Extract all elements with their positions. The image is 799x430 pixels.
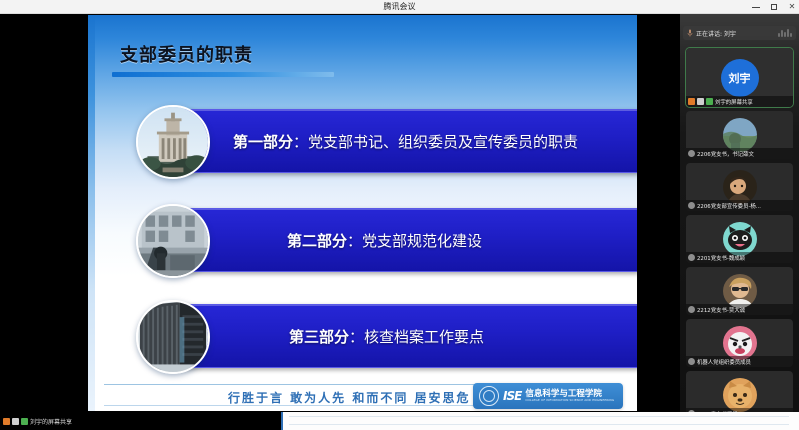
taskbar-share-label: 刘宇的屏幕共享 bbox=[30, 417, 72, 426]
cartoon-cat-photo bbox=[723, 222, 757, 256]
close-button[interactable]: ✕ bbox=[787, 2, 797, 12]
share-badge-icon bbox=[3, 418, 10, 425]
content-text-2: 第二部分：党支部规范化建设 bbox=[177, 230, 482, 251]
content-text-1: 第一部分：党支部书记、组织委员及宣传委员的职责 bbox=[177, 131, 578, 152]
building-main-hall-photo bbox=[136, 105, 210, 179]
mic-muted-badge-icon bbox=[688, 150, 695, 157]
participant-label-3: 2201党支书-魏成颖 bbox=[686, 252, 793, 263]
building-tower-photo bbox=[136, 300, 210, 374]
content-bar-1[interactable]: 第一部分：党支部书记、组织委员及宣传委员的职责 bbox=[176, 109, 637, 173]
taskbar: 刘宇的屏幕共享 bbox=[0, 412, 799, 430]
participant-tile-1[interactable]: 2206党支书，书记薛文 bbox=[686, 111, 793, 159]
participant-label-5: 机器人党组织委员成员 bbox=[686, 356, 793, 367]
participant-label-2: 2206党支部宣传委员-杨... bbox=[686, 200, 793, 211]
mic-muted-badge-icon bbox=[688, 254, 695, 261]
college-seal-icon bbox=[479, 386, 499, 406]
taskbar-share-indicator[interactable]: 刘宇的屏幕共享 bbox=[3, 415, 72, 427]
mic-muted-badge-icon bbox=[688, 358, 695, 365]
presentation-slide: 支部委员的职责 第一部分：党支部书记、组织委员及宣传委员的职责 bbox=[88, 15, 637, 411]
participant-name-5: 机器人党组织委员成员 bbox=[697, 358, 751, 366]
participant-name-4: 2212党支书-贾大诚 bbox=[697, 306, 745, 314]
active-speaker-chip: 正在讲话: 刘宇 bbox=[683, 26, 796, 40]
slide-footer-motto: 行胜于言 敢为人先 和而不同 居安思危 bbox=[228, 389, 471, 406]
mic-icon bbox=[687, 29, 693, 37]
building-entrance-photo bbox=[136, 204, 210, 278]
participant-tile-3[interactable]: 2201党支书-魏成颖 bbox=[686, 215, 793, 263]
participant-label-4: 2212党支书-贾大诚 bbox=[686, 304, 793, 315]
person-portrait-photo bbox=[723, 170, 757, 204]
participant-name-2: 2206党支部宣传委员-杨... bbox=[697, 202, 761, 210]
content-sep-1: ： bbox=[293, 133, 308, 151]
participant-tile-2[interactable]: 2206党支部宣传委员-杨... bbox=[686, 163, 793, 211]
logo-mark-text: ISE bbox=[503, 389, 521, 403]
active-speaker-label: 正在讲话: 刘宇 bbox=[696, 29, 736, 38]
window-controls: ✕ bbox=[751, 0, 797, 14]
participant-name-0: 刘宇的屏幕共享 bbox=[715, 98, 753, 106]
minimize-button[interactable] bbox=[751, 2, 761, 12]
participant-name-1: 2206党支书，书记薛文 bbox=[697, 150, 754, 158]
person-sunglasses-photo bbox=[723, 274, 757, 308]
slide-title: 支部委员的职责 bbox=[120, 41, 253, 67]
mic-badge-icon bbox=[21, 418, 28, 425]
video-badge-icon bbox=[12, 418, 19, 425]
maximize-button[interactable] bbox=[769, 2, 779, 12]
slide-title-underline bbox=[112, 72, 334, 77]
video-badge-icon bbox=[697, 98, 704, 105]
content-text-3: 第三部分：核查档案工作要点 bbox=[177, 326, 484, 347]
participant-tile-0[interactable]: 刘宇 刘宇的屏幕共享 bbox=[686, 48, 793, 107]
person-outdoor-photo bbox=[723, 118, 757, 152]
mic-badge-icon bbox=[706, 98, 713, 105]
content-bar-2[interactable]: 第二部分：党支部规范化建设 bbox=[176, 208, 637, 272]
participant-name-3: 2201党支书-魏成颖 bbox=[697, 254, 745, 262]
window-titlebar: 腾讯会议 ✕ bbox=[0, 0, 799, 14]
content-sep-2: ： bbox=[347, 232, 362, 250]
participant-panel: 正在讲话: 刘宇 刘宇 刘宇的屏幕共享 bbox=[680, 14, 799, 412]
content-body-2: 党支部规范化建设 bbox=[362, 232, 482, 250]
slide-left-accent-bar bbox=[88, 15, 95, 411]
logo-college-name-en: COLLEGE OF INFORMATION SCIENCE AND ENGIN… bbox=[525, 399, 614, 402]
shared-screen-stage: 支部委员的职责 第一部分：党支部书记、组织委员及宣传委员的职责 bbox=[0, 14, 680, 412]
taskbar-document-pane bbox=[281, 412, 799, 430]
participant-label-1: 2206党支书，书记薛文 bbox=[686, 148, 793, 159]
share-badge-icon bbox=[688, 98, 695, 105]
content-label-2: 第二部分 bbox=[287, 232, 347, 250]
window-title: 腾讯会议 bbox=[384, 0, 416, 14]
college-logo: ISE 信息科学与工程学院 COLLEGE OF INFORMATION SCI… bbox=[473, 383, 623, 409]
cartoon-angry-photo bbox=[723, 326, 757, 360]
content-body-3: 核查档案工作要点 bbox=[364, 328, 484, 346]
participant-label-0: 刘宇的屏幕共享 bbox=[686, 96, 793, 107]
audio-wave-icon bbox=[778, 29, 792, 37]
mic-muted-badge-icon bbox=[688, 202, 695, 209]
content-label-1: 第一部分 bbox=[233, 133, 293, 151]
participant-tile-5[interactable]: 机器人党组织委员成员 bbox=[686, 319, 793, 367]
content-body-1: 党支部书记、组织委员及宣传委员的职责 bbox=[308, 133, 578, 151]
content-label-3: 第三部分 bbox=[289, 328, 349, 346]
content-bar-3[interactable]: 第三部分：核查档案工作要点 bbox=[176, 304, 637, 368]
mic-muted-badge-icon bbox=[688, 306, 695, 313]
content-sep-3: ： bbox=[349, 328, 364, 346]
avatar: 刘宇 bbox=[721, 59, 759, 97]
cartoon-fox-photo bbox=[723, 378, 757, 412]
app-root: 腾讯会议 ✕ 支部委员的职责 第一部分：党支部书记、组织委员及宣传委员的职责 bbox=[0, 0, 799, 430]
participant-tile-4[interactable]: 2212党支书-贾大诚 bbox=[686, 267, 793, 315]
